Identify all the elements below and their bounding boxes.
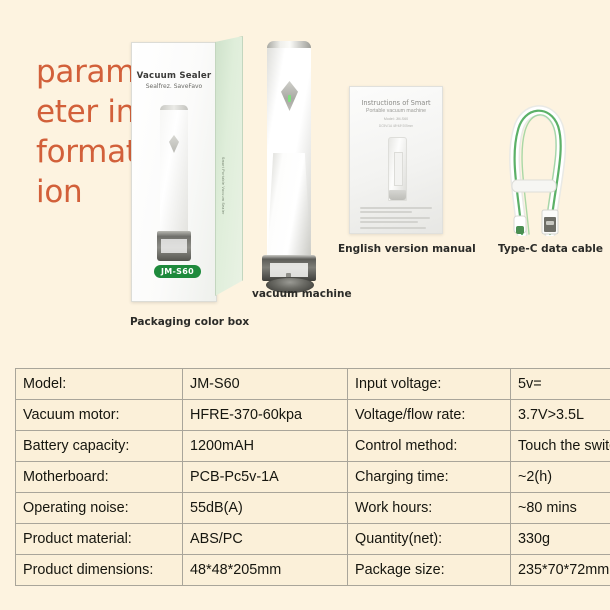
manual-text-line	[360, 221, 418, 223]
manual-text-line	[360, 211, 412, 213]
box-front-panel: Vacuum Sealer Sealfrez. SaveFavo JM-S60	[131, 42, 217, 302]
spec-value: 5v=	[511, 369, 610, 400]
vacuum-machine-image	[258, 33, 324, 289]
spec-key: Quantity(net):	[348, 524, 511, 555]
spec-key: Control method:	[348, 431, 511, 462]
table-row: Model: JM-S60 Input voltage: 5v=	[16, 369, 610, 400]
table-row: Product dimensions: 48*48*205mm Package …	[16, 555, 610, 586]
spec-value: 235*70*72mm	[511, 555, 610, 586]
spec-value: ABS/PC	[183, 524, 348, 555]
spec-key: Charging time:	[348, 462, 511, 493]
spec-key: Operating noise:	[16, 493, 183, 524]
box-device-body	[160, 105, 188, 233]
page-title: parameter information	[36, 52, 140, 212]
table-row: Operating noise: 55dB(A) Work hours: ~80…	[16, 493, 610, 524]
caption-packaging-color-box: Packaging color box	[130, 316, 249, 328]
box-side-panel: Smart Portable Vacuum Sealer	[215, 36, 243, 296]
box-device-window	[161, 239, 187, 253]
manual-image: Instructions of Smart Portable vacuum ma…	[349, 86, 443, 234]
spec-value: ~80 mins	[511, 493, 610, 524]
caption-type-c-data-cable: Type-C data cable	[498, 243, 603, 255]
box-side-text: Smart Portable Vacuum Sealer	[221, 157, 225, 277]
spec-key: Motherboard:	[16, 462, 183, 493]
spec-key: Voltage/flow rate:	[348, 400, 511, 431]
spec-value: PCB-Pc5v-1A	[183, 462, 348, 493]
manual-text-line	[360, 227, 426, 229]
spec-key: Package size:	[348, 555, 511, 586]
cable-illustration	[488, 84, 598, 236]
spec-value: ~2(h)	[511, 462, 610, 493]
manual-text-line	[360, 207, 432, 209]
spec-value: JM-S60	[183, 369, 348, 400]
machine-top-cap	[267, 41, 311, 48]
product-showcase: parameter information Vacuum Sealer Seal…	[0, 0, 610, 352]
spec-key: Product material:	[16, 524, 183, 555]
table-row: Motherboard: PCB-Pc5v-1A Charging time: …	[16, 462, 610, 493]
machine-taper	[267, 153, 311, 259]
table-row: Battery capacity: 1200mAH Control method…	[16, 431, 610, 462]
spec-table-body: Model: JM-S60 Input voltage: 5v= Vacuum …	[16, 369, 610, 586]
manual-device-figure-base	[389, 190, 406, 200]
caption-english-version-manual: English version manual	[338, 243, 476, 255]
spec-value: 3.7V>3.5L	[511, 400, 610, 431]
manual-doc-spec: DC5V/1A 48*48*205mm	[350, 124, 442, 128]
packaging-color-box-image: Vacuum Sealer Sealfrez. SaveFavo JM-S60 …	[131, 36, 243, 306]
spec-value: 1200mAH	[183, 431, 348, 462]
manual-doc-subtitle: Portable vacuum machine	[350, 108, 442, 114]
manual-device-figure-inner	[394, 152, 403, 186]
manual-doc-title: Instructions of Smart	[350, 99, 442, 107]
machine-led-indicator-icon	[288, 95, 291, 102]
spec-key: Input voltage:	[348, 369, 511, 400]
spec-key: Model:	[16, 369, 183, 400]
spec-value: 330g	[511, 524, 610, 555]
spec-value: HFRE-370-60kpa	[183, 400, 348, 431]
spec-value: 48*48*205mm	[183, 555, 348, 586]
spec-key: Work hours:	[348, 493, 511, 524]
box-brand-title: Vacuum Sealer	[132, 71, 216, 81]
box-device-cap	[160, 105, 188, 110]
manual-doc-model: Model: JM-S60	[350, 117, 442, 121]
manual-text-line	[360, 217, 430, 219]
table-row: Vacuum motor: HFRE-370-60kpa Voltage/flo…	[16, 400, 610, 431]
box-model-badge: JM-S60	[154, 265, 201, 278]
specification-table: Model: JM-S60 Input voltage: 5v= Vacuum …	[15, 368, 610, 586]
manual-device-figure	[388, 137, 407, 201]
box-device-illustration	[157, 105, 191, 265]
type-c-data-cable-image	[488, 84, 598, 236]
spec-value: Touch the switch	[511, 431, 610, 462]
spec-key: Battery capacity:	[16, 431, 183, 462]
table-row: Product material: ABS/PC Quantity(net): …	[16, 524, 610, 555]
caption-vacuum-machine: vacuum machine	[252, 288, 352, 300]
spec-key: Vacuum motor:	[16, 400, 183, 431]
box-brand-subtitle: Sealfrez. SaveFavo	[132, 83, 216, 90]
spec-value: 55dB(A)	[183, 493, 348, 524]
spec-key: Product dimensions:	[16, 555, 183, 586]
